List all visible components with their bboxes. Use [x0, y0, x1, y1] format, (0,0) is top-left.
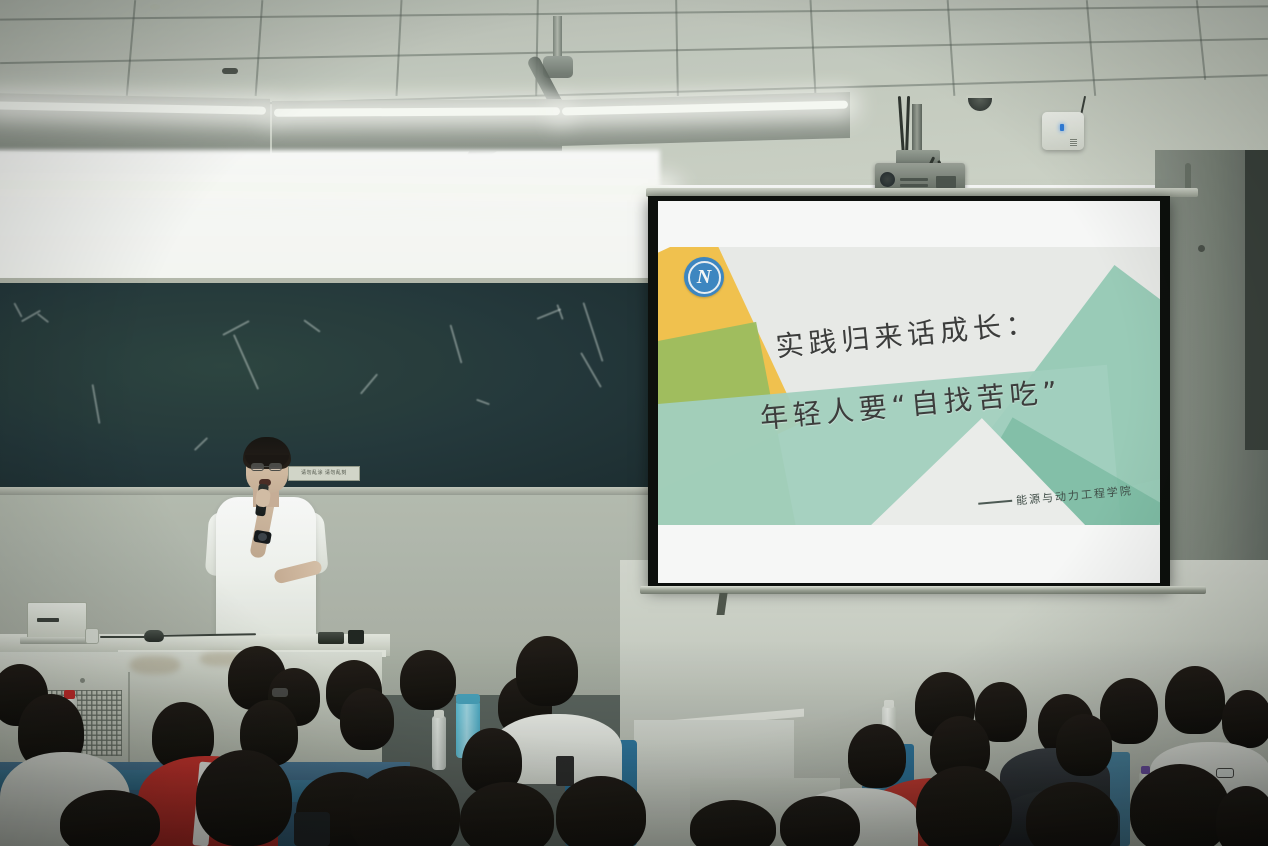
microphone-receiver[interactable] — [348, 630, 364, 644]
presentation-slide: N 实践归来话成长： 年轻人要“自找苦吃” 能源与动力工程学院 — [658, 201, 1160, 583]
wall-access-point — [1042, 112, 1084, 150]
eyeglasses-bridge-icon — [263, 466, 270, 467]
wristwatch-face — [258, 533, 267, 541]
light-fixture-housing — [560, 92, 850, 146]
qr-label-icon — [1070, 139, 1077, 146]
laptop-hinge — [37, 618, 59, 622]
projection-screen: N 实践归来话成长： 年轻人要“自找苦吃” 能源与动力工程学院 — [658, 201, 1160, 583]
audience-eyeglasses-icon — [272, 688, 288, 697]
audience-head — [400, 650, 456, 710]
bottle-cap — [434, 710, 444, 718]
projector-lens — [880, 172, 895, 187]
status-led-icon — [1060, 124, 1064, 131]
blackboard-notice-text: 请勿乱涂 请勿乱刻 — [289, 467, 359, 480]
blackboard-notice-sign: 请勿乱涂 请勿乱刻 — [288, 466, 360, 481]
audience-head — [848, 724, 906, 788]
audience-eyeglasses-icon — [1216, 768, 1234, 778]
water-bottle[interactable] — [432, 716, 446, 770]
wall-hole — [1198, 245, 1205, 252]
podium-screw — [80, 678, 85, 683]
ceiling-smoke-detector — [222, 68, 238, 74]
fluorescent-tube — [274, 107, 560, 116]
ceiling-fan-rod — [553, 16, 562, 60]
desk-device[interactable] — [85, 628, 99, 644]
computer-mouse[interactable] — [144, 630, 164, 642]
audience-head-foreground — [350, 766, 460, 846]
presentation-clicker[interactable] — [318, 632, 344, 644]
audience-head-foreground — [916, 766, 1012, 846]
right-wall-recess — [1245, 150, 1268, 450]
audience-head — [1222, 690, 1268, 748]
presenter-laptop-base[interactable] — [20, 637, 94, 644]
audience-head — [1056, 714, 1112, 776]
eyeglasses-right-lens-icon — [269, 463, 282, 471]
thermos-cap — [456, 694, 480, 704]
presenter-laptop-lid[interactable] — [27, 602, 87, 642]
projector-vent — [936, 176, 956, 188]
university-logo-icon: N — [684, 257, 724, 297]
logo-letter: N — [684, 257, 724, 297]
slide-top-margin — [658, 201, 1160, 247]
audience-head-foreground — [196, 750, 292, 846]
mouse-cable — [100, 636, 146, 638]
audience-head — [1165, 666, 1225, 734]
audience-head-foreground — [556, 776, 646, 846]
podium-stain — [130, 656, 180, 674]
subtitle-dash-icon — [978, 500, 1012, 504]
audience-head-foreground — [460, 782, 554, 846]
tshirt-graphic — [556, 756, 574, 786]
projector-vent — [900, 184, 928, 187]
projector-vent — [900, 178, 928, 181]
tshirt-graphic-dark — [294, 812, 330, 846]
light-glow — [0, 150, 660, 280]
lecture-hall-photo: 请勿乱涂 请勿乱刻 N 实践归来话成长： 年轻人要“自找苦吃” — [0, 0, 1268, 846]
blackboard — [0, 283, 648, 490]
audience-head — [340, 688, 394, 750]
audience-head-foreground — [1130, 764, 1230, 846]
ceiling-sprinkler — [150, 4, 160, 10]
audience-head — [516, 636, 578, 706]
bottle-cap — [884, 700, 894, 708]
podium-seam — [128, 672, 130, 772]
slide-bottom-margin — [658, 525, 1160, 583]
